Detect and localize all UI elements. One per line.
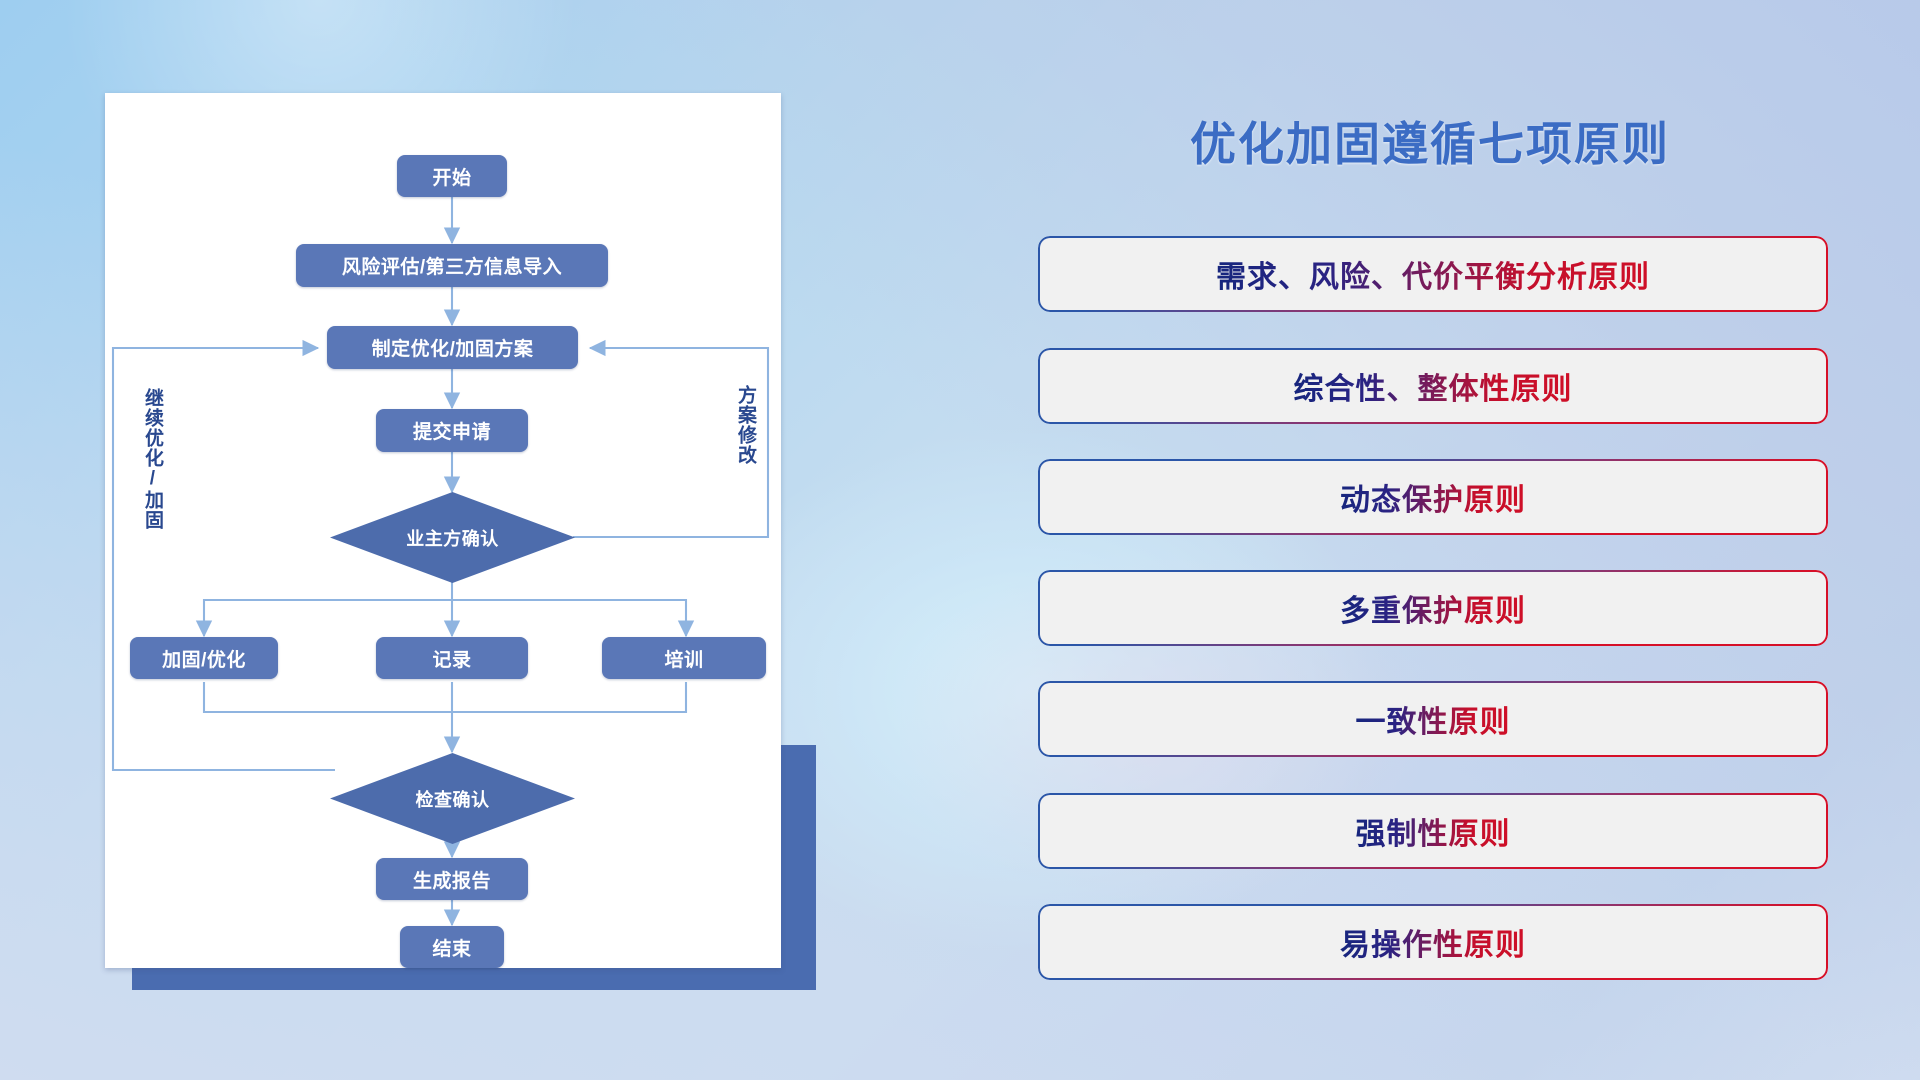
flow-node-plan[interactable]: 制定优化/加固方案 [327,326,578,369]
flow-node-check-confirm[interactable]: 检查确认 [330,753,575,844]
diamond-shape-owner [330,492,575,583]
principles-region: 优化加固遵循七项原则 需求、风险、代价平衡分析原则 综合性、整体性原则 动态保护… [1020,0,1840,1080]
flow-node-record[interactable]: 记录 [376,637,528,679]
flow-node-training-label: 培训 [664,645,703,672]
principle-card-6[interactable]: 强制性原则 [1038,793,1828,869]
principle-card-4[interactable]: 多重保护原则 [1038,570,1828,646]
flow-node-owner-confirm[interactable]: 业主方确认 [330,492,575,583]
principle-card-3-label: 动态保护原则 [1340,475,1526,519]
flow-node-risk-assessment[interactable]: 风险评估/第三方信息导入 [296,244,608,287]
principle-card-5[interactable]: 一致性原则 [1038,681,1828,757]
principle-card-6-label: 强制性原则 [1356,809,1511,853]
principle-card-2-label: 综合性、整体性原则 [1294,364,1573,408]
principle-card-1[interactable]: 需求、风险、代价平衡分析原则 [1038,236,1828,312]
principle-card-1-label: 需求、风险、代价平衡分析原则 [1216,252,1650,296]
diamond-shape-check [330,753,575,844]
principle-card-7[interactable]: 易操作性原则 [1038,904,1828,980]
principle-card-2[interactable]: 综合性、整体性原则 [1038,348,1828,424]
flow-node-report[interactable]: 生成报告 [376,858,528,900]
flow-node-end-label: 结束 [432,934,471,961]
principle-card-5-label: 一致性原则 [1356,697,1511,741]
flow-node-report-label: 生成报告 [413,866,491,893]
flow-node-plan-label: 制定优化/加固方案 [372,334,534,361]
flow-edge-label-revise: 方案修改 [735,385,755,505]
principle-card-7-label: 易操作性原则 [1340,920,1526,964]
flow-node-start-label: 开始 [432,163,471,190]
flow-node-submit[interactable]: 提交申请 [376,409,528,452]
flow-node-end[interactable]: 结束 [400,926,504,968]
flow-node-record-label: 记录 [432,645,471,672]
flow-node-training[interactable]: 培训 [602,637,766,679]
principle-card-3[interactable]: 动态保护原则 [1038,459,1828,535]
flow-node-start[interactable]: 开始 [397,155,507,197]
flow-node-reinforce-label: 加固/优化 [162,645,246,672]
page-title: 优化加固遵循七项原则 [1020,108,1840,174]
flow-node-reinforce[interactable]: 加固/优化 [130,637,278,679]
flow-node-submit-label: 提交申请 [413,417,491,444]
principle-card-4-label: 多重保护原则 [1340,586,1526,630]
flow-node-risk-assessment-label: 风险评估/第三方信息导入 [342,252,562,279]
flow-edge-label-continue: 继续优化/加固 [142,388,162,548]
